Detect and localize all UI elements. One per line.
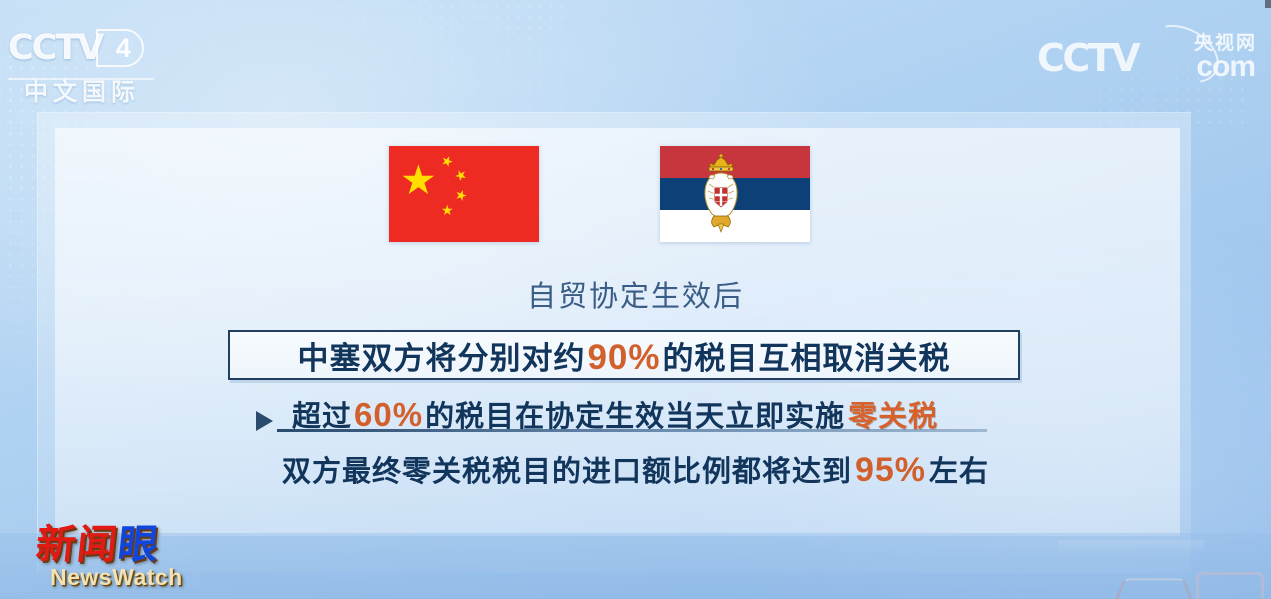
final-line-text: 双方最终零关税税目的进口额比例都将达到95%左右 bbox=[0, 448, 1271, 490]
program-title-en: NewsWatch bbox=[36, 564, 246, 591]
cctv-wordmark: CCTV bbox=[8, 28, 102, 68]
flag-star-small-3: ★ bbox=[453, 186, 470, 203]
bullet-line-text: 超过60%的税目在协定生效当天立即实施零关税 bbox=[292, 393, 938, 435]
watermark-cctv-wordmark: CCTV bbox=[1037, 36, 1138, 80]
cctv-com-watermark: CCTV 央视网 com bbox=[1027, 30, 1259, 90]
screen-edge-artifact bbox=[1265, 0, 1271, 8]
bullet-accent-zero-tariff: 零关税 bbox=[845, 401, 938, 433]
graphic-subtitle: 自贸协定生效后 bbox=[0, 273, 1271, 315]
headline-box: 中塞双方将分别对约90%的税目互相取消关税 bbox=[228, 330, 1020, 380]
logo-divider-rule bbox=[8, 78, 154, 80]
final-part2: 左右 bbox=[929, 456, 989, 488]
program-title-cn: 新闻眼 bbox=[34, 522, 249, 568]
program-title-cn-part2: 眼 bbox=[116, 522, 162, 568]
background-dot-texture-top bbox=[150, 0, 570, 120]
channel-number-badge: 4 bbox=[96, 29, 144, 67]
bullet-accent-percent: 60% bbox=[352, 396, 425, 433]
flag-star-small-2: ★ bbox=[452, 166, 471, 185]
program-title-cn-part1: 新闻 bbox=[34, 522, 121, 568]
cctv4-channel-logo: CCTV 4 中文国际 bbox=[8, 26, 188, 108]
flag-serbia-icon bbox=[660, 146, 810, 242]
flag-star-large: ★ bbox=[400, 160, 437, 201]
cctv4-logo-row: CCTV 4 bbox=[8, 26, 188, 70]
final-accent-percent: 95% bbox=[852, 451, 929, 489]
bullet-part1: 超过 bbox=[292, 401, 352, 433]
final-part1: 双方最终零关税税目的进口额比例都将达到 bbox=[282, 456, 852, 488]
bullet-line-row: 超过60%的税目在协定生效当天立即实施零关税 bbox=[256, 399, 1016, 443]
bullet-part2: 的税目在协定生效当天立即实施 bbox=[425, 401, 845, 433]
headline-part2: 的税目互相取消关税 bbox=[663, 341, 951, 376]
triangle-bullet-icon bbox=[256, 411, 273, 431]
flag-star-small-1: ★ bbox=[439, 152, 456, 170]
broadcast-screen: CCTV 4 中文国际 CCTV 央视网 com ★ ★ ★ ★ ★ bbox=[0, 0, 1271, 599]
flag-star-small-4: ★ bbox=[441, 203, 454, 217]
program-logo-newswatch: 新闻眼 NewsWatch bbox=[36, 522, 246, 596]
headline-accent-percent: 90% bbox=[585, 338, 662, 377]
channel-number: 4 bbox=[110, 33, 131, 64]
watermark-site-tld: com bbox=[1196, 50, 1255, 84]
headline-part1: 中塞双方将分别对约 bbox=[297, 341, 585, 376]
headline-text: 中塞双方将分别对约90%的税目互相取消关税 bbox=[297, 333, 950, 378]
serbia-coat-of-arms-icon bbox=[698, 154, 744, 234]
flag-china-icon: ★ ★ ★ ★ ★ bbox=[389, 146, 539, 242]
